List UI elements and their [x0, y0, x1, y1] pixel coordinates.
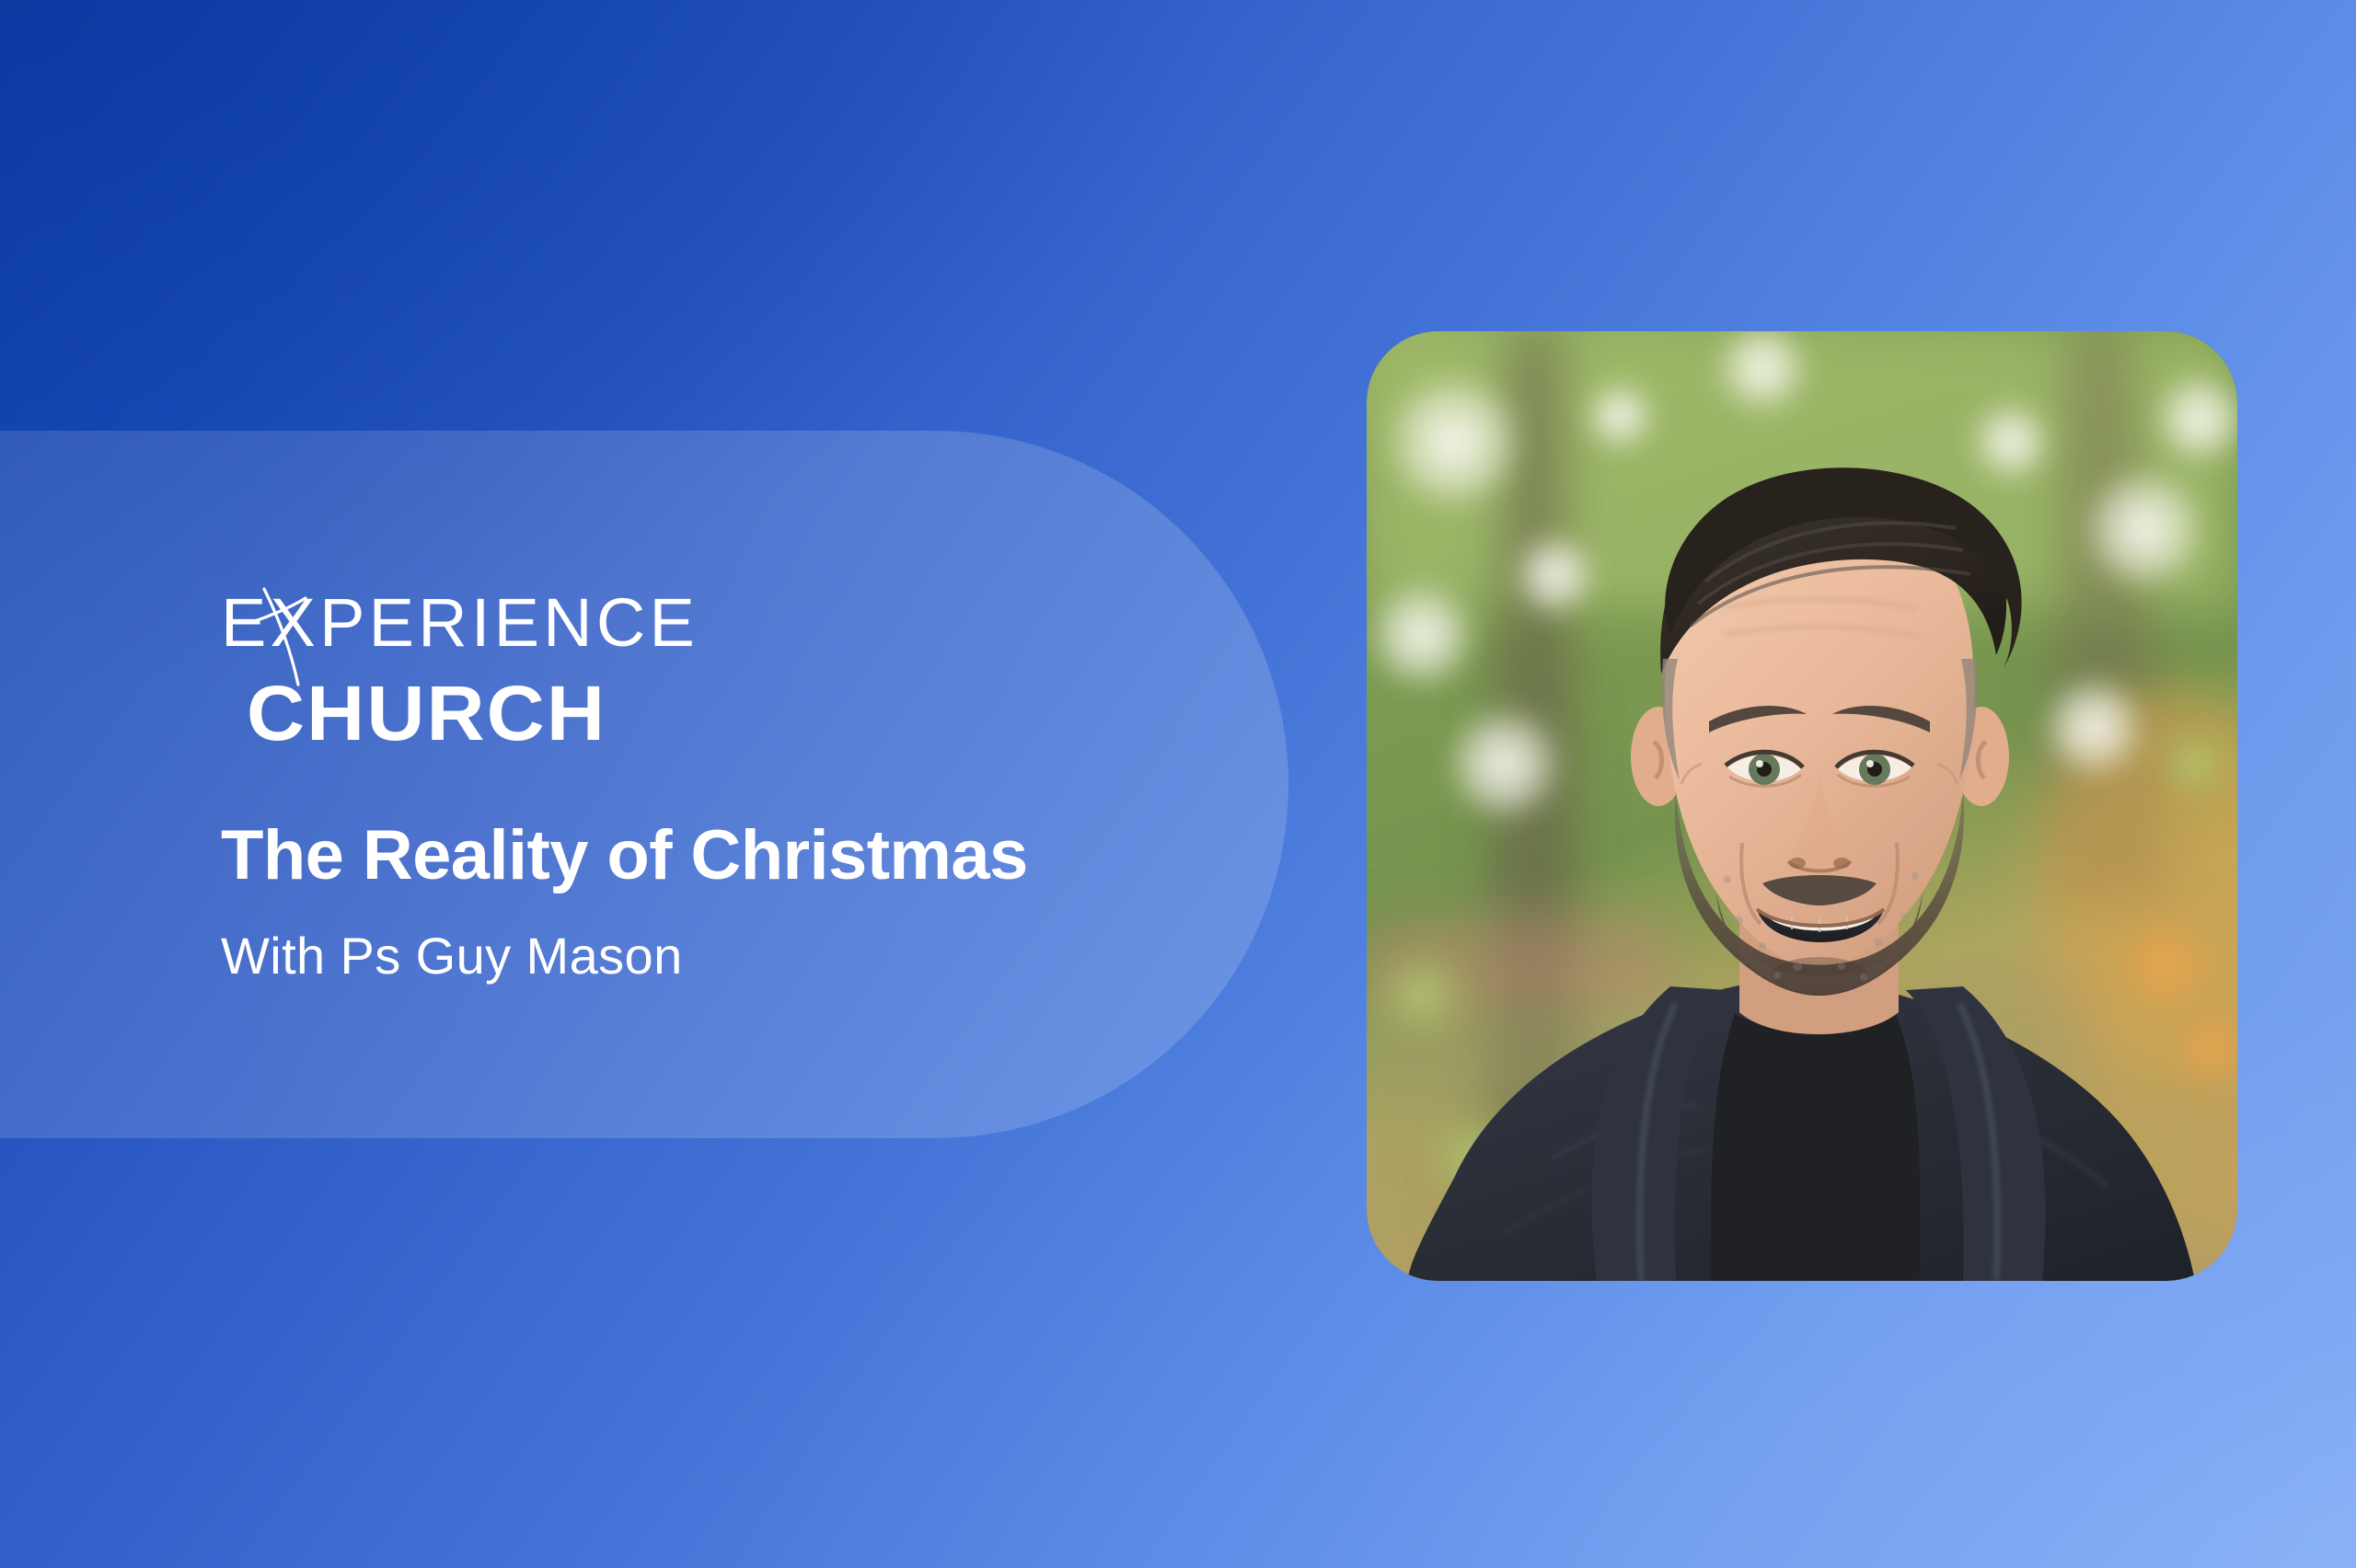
- logo-experience-wordmark: EXPERIENCE: [221, 582, 714, 666]
- page-title: The Reality of Christmas: [221, 819, 1252, 893]
- speaker-portrait: [1367, 331, 2237, 1281]
- text-block: EXPERIENCE CHURCH The Reality of Christm…: [221, 582, 1252, 985]
- speaker-label: With Ps Guy Mason: [221, 928, 1252, 985]
- logo-church-wordmark: CHURCH: [247, 675, 1292, 751]
- slide-canvas: EXPERIENCE CHURCH The Reality of Christm…: [0, 0, 2356, 1568]
